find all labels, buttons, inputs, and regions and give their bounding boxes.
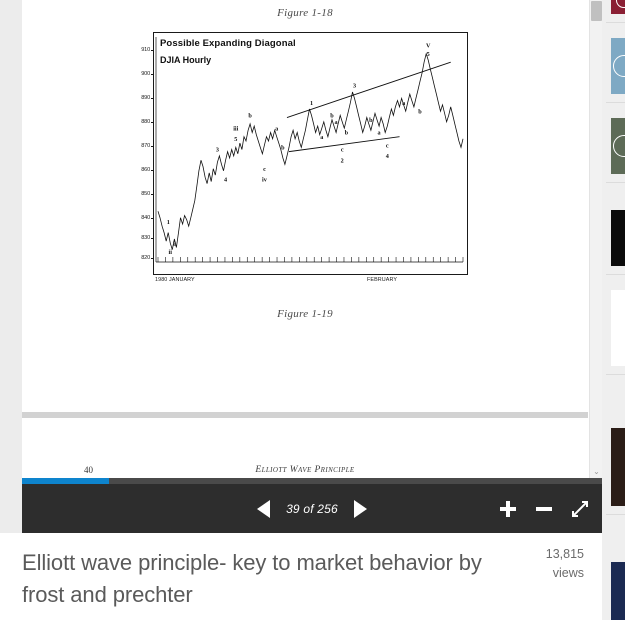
rail-separator [606, 374, 625, 375]
wave-label: 2 [173, 240, 176, 247]
related-thumbnails-rail[interactable] [602, 0, 625, 620]
y-tick-910: 910 [141, 47, 150, 53]
wave-label: 3 [216, 147, 219, 154]
wave-label: 2 [341, 157, 344, 164]
wave-label: 3 [353, 83, 356, 90]
play-ring-icon [616, 0, 625, 8]
fullscreen-icon[interactable] [570, 499, 590, 519]
scroll-down-arrow[interactable]: ⌄ [590, 465, 602, 478]
thumb-video-6[interactable] [611, 428, 625, 506]
chart-svg: ii12345iiibcivab1abc2ab3bac4ab5V [154, 33, 468, 275]
zoom-out-icon[interactable] [534, 499, 554, 519]
figure-1-19: 910 900 890 880 870 860 850 840 830 820 … [128, 32, 468, 287]
thumb-video-4[interactable] [611, 210, 625, 266]
viewer-toolbar: 39 of 256 [22, 484, 602, 533]
wave-label: c [341, 147, 344, 154]
rail-separator [606, 102, 625, 103]
wave-label: c [386, 142, 389, 149]
wave-label: 4 [224, 176, 227, 183]
wave-label: b [345, 130, 349, 137]
rail-separator [606, 182, 625, 183]
wave-label: 4 [386, 153, 389, 160]
wave-label: a [335, 119, 338, 126]
y-tick-840: 840 [141, 215, 150, 221]
wave-label: 5 [427, 51, 430, 58]
wave-label: b [281, 145, 285, 152]
y-tick-850: 850 [141, 191, 150, 197]
wave-label: 1 [167, 219, 170, 226]
y-tick-880: 880 [141, 119, 150, 125]
document-viewer-page: Figure 1-18 910 900 890 880 870 860 850 … [0, 0, 625, 620]
previous-page-icon[interactable] [257, 500, 270, 518]
wave-label: V [426, 42, 431, 49]
wave-label: b [369, 117, 373, 124]
rail-separator [606, 22, 625, 23]
wave-label: a [320, 134, 323, 141]
running-head: Elliott Wave Principle [22, 465, 588, 475]
trendline-lower-channel [289, 137, 400, 152]
document-page-39: Figure 1-18 910 900 890 880 870 860 850 … [22, 0, 588, 418]
views-block: 13,815 views [512, 545, 584, 584]
page-running-footer: 40 Elliott Wave Principle [22, 465, 588, 478]
page-indicator: 39 of 256 [280, 502, 344, 516]
wave-label: 5 [234, 136, 237, 143]
thumb-video-1[interactable] [611, 0, 625, 14]
scrollbar-thumb[interactable] [591, 1, 602, 21]
play-ring-icon [613, 55, 625, 77]
play-ring-icon [613, 135, 625, 157]
figure-caption-bottom: Figure 1-19 [22, 308, 588, 320]
wave-label: iv [262, 176, 268, 183]
wave-label: b [418, 108, 422, 115]
document-info-bar: Elliott wave principle- key to market be… [0, 533, 602, 620]
thumb-video-3[interactable] [611, 118, 625, 174]
document-scroll-area[interactable]: Figure 1-18 910 900 890 880 870 860 850 … [22, 0, 602, 478]
x-label-january: 1980 JANUARY [155, 277, 195, 283]
y-tick-890: 890 [141, 95, 150, 101]
zoom-controls-group [498, 484, 590, 533]
wave-label: ii [169, 249, 173, 256]
wave-label: iii [233, 125, 238, 132]
chart-x-axis: 1980 JANUARY FEBRUARY [153, 277, 468, 289]
chart-y-axis: 910 900 890 880 870 860 850 840 830 820 [128, 32, 153, 275]
wave-label: b [248, 113, 252, 120]
y-tick-830: 830 [141, 235, 150, 241]
wave-label: c [263, 166, 266, 173]
chart-plot-frame: Possible Expanding Diagonal DJIA Hourly … [153, 32, 468, 275]
document-page-40: 40 Elliott Wave Principle [22, 418, 588, 478]
next-page-icon[interactable] [354, 500, 367, 518]
price-series-line [158, 54, 463, 250]
rail-separator [606, 514, 625, 515]
viewer-scrollbar[interactable]: ⌄ [589, 0, 602, 478]
wave-label: a [378, 130, 381, 137]
left-gutter [0, 0, 22, 533]
document-viewer: Figure 1-18 910 900 890 880 870 860 850 … [22, 0, 602, 533]
x-label-february: FEBRUARY [367, 277, 397, 283]
wave-label: a [402, 100, 405, 107]
y-tick-820: 820 [141, 255, 150, 261]
rail-separator [606, 274, 625, 275]
figure-caption-top: Figure 1-18 [22, 7, 588, 19]
y-tick-870: 870 [141, 143, 150, 149]
wave-label: 1 [310, 100, 313, 107]
wave-label: a [275, 125, 278, 132]
document-title-link[interactable]: Elliott wave principle- key to market be… [22, 547, 500, 611]
zoom-in-icon[interactable] [498, 499, 518, 519]
thumb-video-2[interactable] [611, 38, 625, 94]
views-label: views [512, 564, 584, 583]
views-count: 13,815 [512, 545, 584, 564]
thumb-doc-5[interactable] [611, 290, 625, 366]
trendline-upper-channel [287, 62, 451, 117]
y-tick-860: 860 [141, 167, 150, 173]
thumb-doc-7[interactable] [611, 562, 625, 620]
y-tick-900: 900 [141, 71, 150, 77]
